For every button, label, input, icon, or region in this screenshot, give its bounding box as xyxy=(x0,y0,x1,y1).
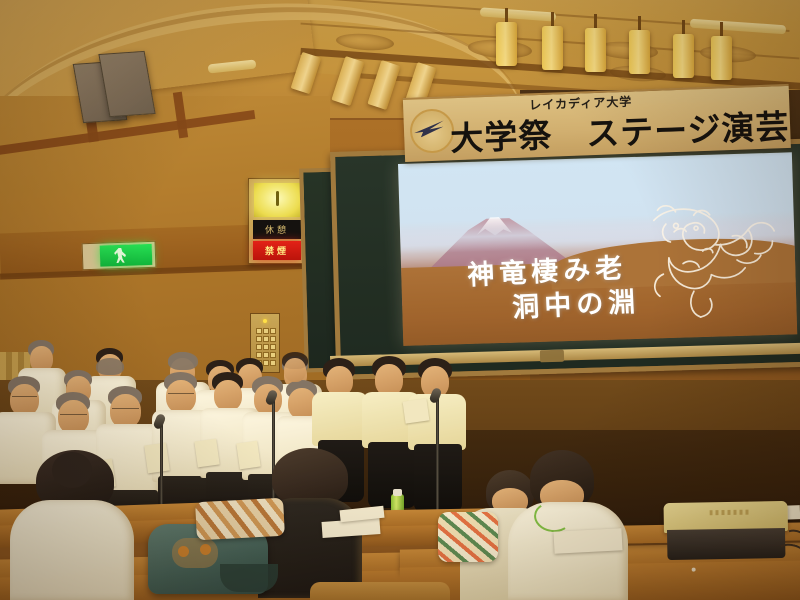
stage-light xyxy=(585,28,606,72)
panel-button[interactable] xyxy=(256,352,262,358)
panel-button[interactable] xyxy=(270,344,276,350)
chair-back xyxy=(310,582,450,600)
projector-brand-mark xyxy=(710,510,750,516)
program-sheet xyxy=(553,528,622,554)
stage-light xyxy=(629,30,650,74)
no-smoking-label: 禁煙 xyxy=(265,244,289,257)
exit-sign-panel xyxy=(100,244,153,267)
panel-button[interactable] xyxy=(270,328,276,334)
panel-button[interactable] xyxy=(263,328,269,334)
patterned-cloth-bundle xyxy=(438,512,498,562)
running-man-icon xyxy=(114,248,127,263)
bottle-cap xyxy=(393,489,402,496)
backpack-strap xyxy=(220,564,278,592)
break-sign-label: 休憩 xyxy=(265,223,289,236)
panel-power-led xyxy=(263,319,267,323)
canon-projector xyxy=(664,501,789,561)
photo-scene: 休憩 禁煙 xyxy=(0,0,800,600)
panel-button[interactable] xyxy=(256,344,262,350)
panel-button[interactable] xyxy=(256,336,262,342)
panel-button[interactable] xyxy=(263,360,269,366)
stage-light xyxy=(542,26,563,70)
panel-button[interactable] xyxy=(256,328,262,334)
panel-button[interactable] xyxy=(263,344,269,350)
stage-light xyxy=(711,36,732,80)
wall-clock xyxy=(254,183,300,217)
no-smoking-sign: 禁煙 xyxy=(253,241,301,260)
microphone-stand xyxy=(436,398,439,522)
projector-indicator-led xyxy=(692,568,696,572)
projector-body xyxy=(667,528,786,560)
backpack-patch xyxy=(200,544,211,555)
stage-light xyxy=(673,34,694,78)
slide-calligraphy-line2: 洞中の淵 xyxy=(511,280,641,325)
dragon-illustration xyxy=(635,199,780,323)
clock-sign-column: 休憩 禁煙 xyxy=(248,178,306,264)
clock-hand xyxy=(276,191,279,206)
patterned-tote-bag xyxy=(195,498,285,541)
panel-button[interactable] xyxy=(270,360,276,366)
stage-light xyxy=(496,22,517,66)
backpack-patch xyxy=(178,546,189,557)
panel-button[interactable] xyxy=(270,352,276,358)
emergency-exit-sign xyxy=(82,241,157,271)
projection-screen: 神竜棲み老 洞中の淵 xyxy=(398,152,797,346)
break-sign: 休憩 xyxy=(253,220,301,239)
panel-button[interactable] xyxy=(263,336,269,342)
panel-button[interactable] xyxy=(270,336,276,342)
chalk-tray-clip xyxy=(540,350,564,363)
panel-button[interactable] xyxy=(263,352,269,358)
